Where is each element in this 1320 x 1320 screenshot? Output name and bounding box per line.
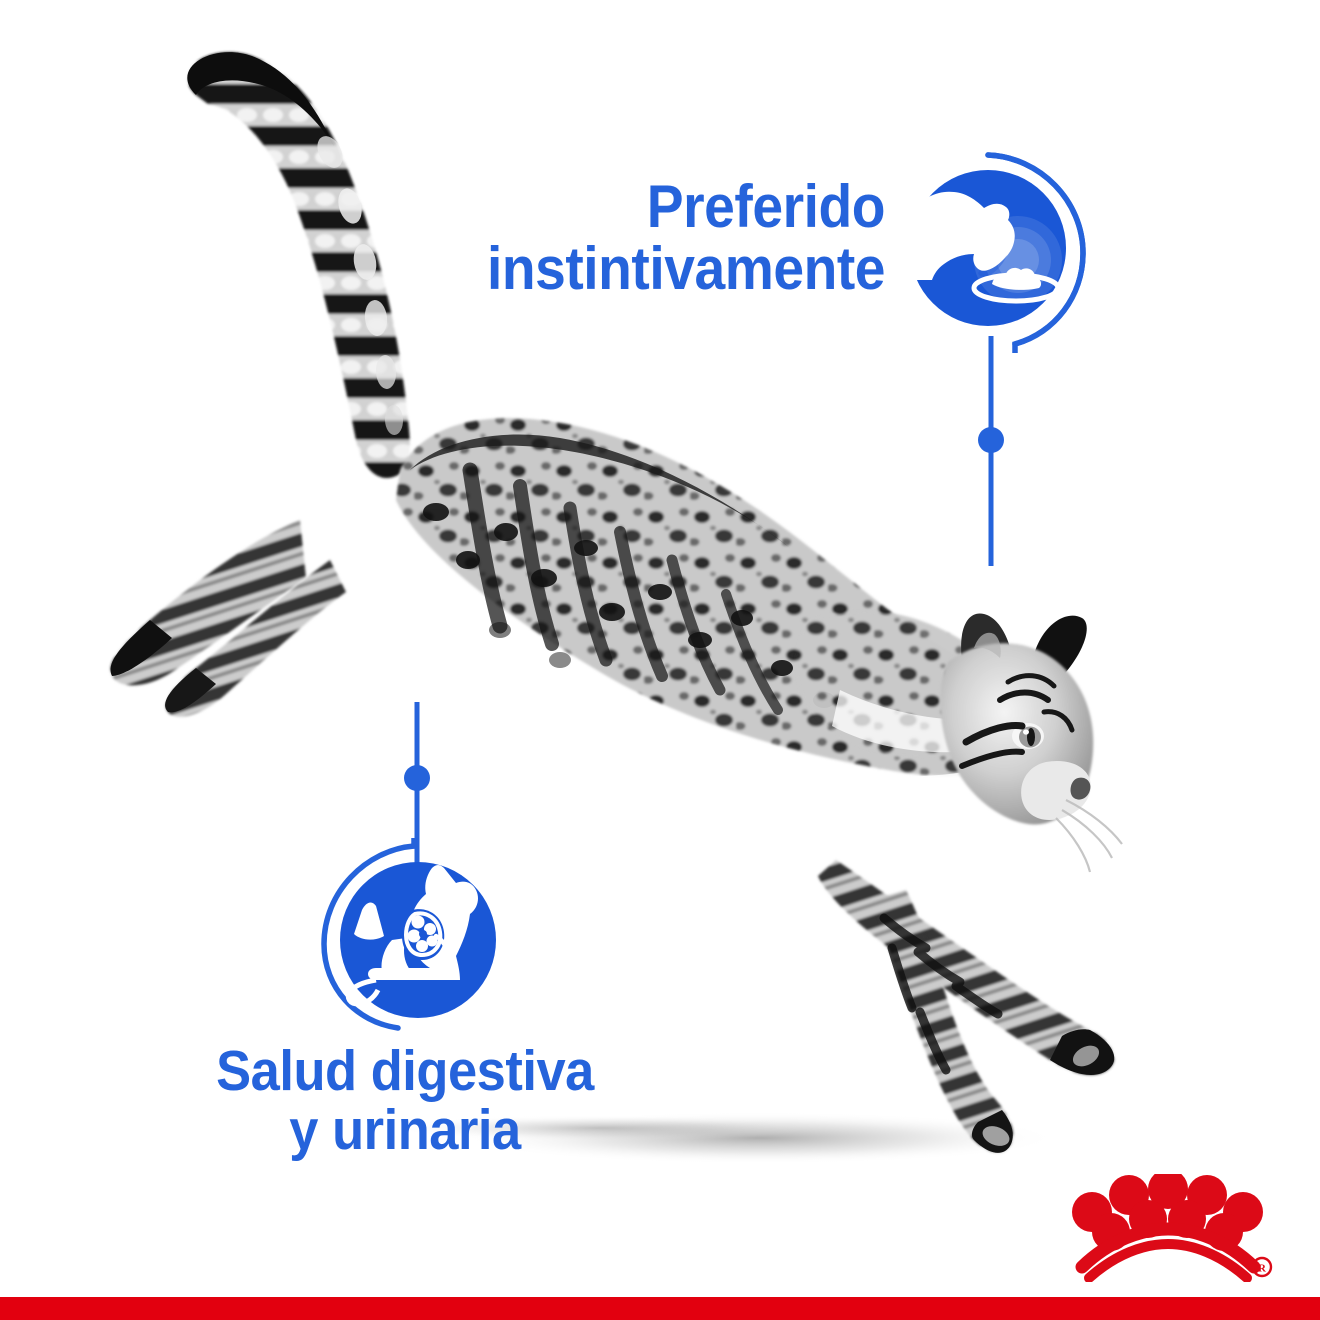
cat-kidney-icon <box>310 838 510 1038</box>
callout-salud-line-2: y urinaria <box>189 1101 621 1160</box>
svg-text:R: R <box>1258 1263 1267 1275</box>
callout-preferido-text: Preferido instintivamente <box>453 176 885 300</box>
cat-front-legs <box>818 860 1114 1153</box>
cat-head <box>940 613 1122 872</box>
cat-eating-bowl-icon <box>900 148 1100 353</box>
connector-line-top <box>975 330 1007 570</box>
callout-salud-line-1: Salud digestiva <box>189 1042 621 1101</box>
cat-body <box>396 418 1029 811</box>
bottom-red-bar <box>0 1297 1320 1320</box>
callout-salud-text: Salud digestiva y urinaria <box>189 1042 621 1159</box>
cat-tail <box>187 52 410 478</box>
royal-canin-crown-logo: R <box>1058 1174 1273 1282</box>
cat-neck <box>796 611 1020 757</box>
marketing-image-canvas: Preferido instintivamente <box>0 0 1320 1320</box>
cat-hind-legs <box>111 520 346 717</box>
callout-preferido-line-1: Preferido <box>453 176 885 238</box>
callout-preferido-line-2: instintivamente <box>453 238 885 300</box>
